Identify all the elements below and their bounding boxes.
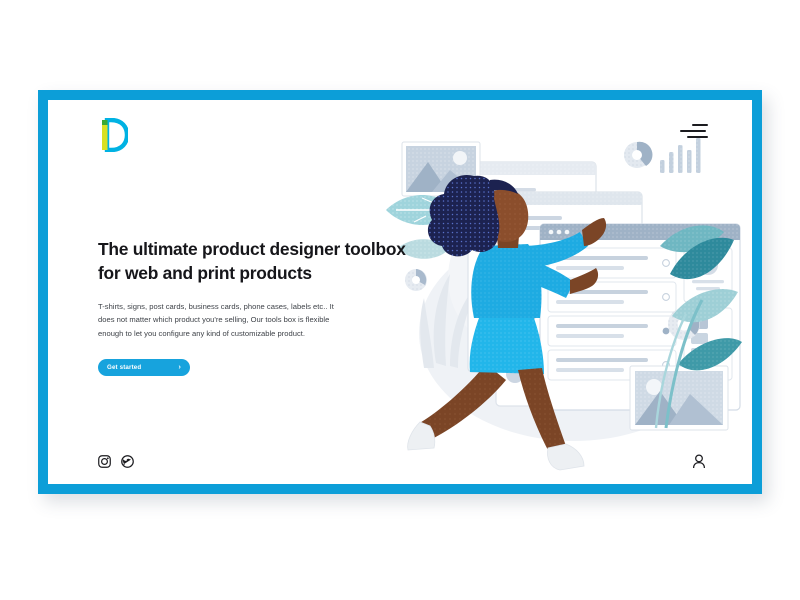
- instagram-icon[interactable]: [98, 455, 111, 468]
- twitter-icon[interactable]: [121, 455, 134, 468]
- hero-illustration: [384, 128, 744, 480]
- hamburger-line-3: [687, 136, 708, 138]
- plant-right: [656, 225, 742, 428]
- hamburger-icon[interactable]: [682, 122, 708, 142]
- hamburger-line-1: [692, 124, 708, 126]
- browser-frame: The ultimate product designer toolboxfor…: [38, 90, 762, 494]
- browser-window-front: [540, 224, 740, 410]
- image-placeholder-card-top: [402, 142, 480, 196]
- screenshot-stage: The ultimate product designer toolboxfor…: [0, 0, 800, 600]
- browser-window-back: [468, 162, 596, 372]
- hamburger-line-2: [680, 130, 706, 132]
- logo-d-mark[interactable]: [98, 118, 128, 152]
- running-woman: [408, 175, 606, 470]
- page-title: The ultimate product designer toolboxfor…: [98, 238, 418, 286]
- user-icon[interactable]: [692, 454, 706, 469]
- hero-copy: The ultimate product designer toolboxfor…: [98, 238, 418, 376]
- front-window-rows: [548, 248, 676, 380]
- hero-paragraph: T-shirts, signs, post cards, business ca…: [98, 300, 336, 341]
- bar-chart: [660, 138, 701, 173]
- grass-fronds: [420, 274, 476, 368]
- background-blob: [419, 212, 729, 441]
- get-started-label: Get started: [107, 364, 141, 371]
- get-started-button[interactable]: Get started ›: [98, 359, 190, 376]
- headline-line-2: for web and print products: [98, 263, 312, 283]
- page-canvas: The ultimate product designer toolboxfor…: [48, 100, 752, 484]
- logo-bar-top: [102, 120, 108, 125]
- donut-chart-large: [624, 142, 652, 168]
- chevron-right-icon: ›: [179, 364, 181, 371]
- image-placeholder-card-bottom: [630, 366, 728, 430]
- front-window-sidebar: [684, 248, 732, 380]
- social-links: [98, 455, 134, 468]
- donut-chart-small-right: [668, 308, 700, 340]
- logo-arc: [107, 120, 127, 150]
- headline-line-1: The ultimate product designer toolbox: [98, 239, 406, 259]
- browser-window-mid: [496, 192, 642, 406]
